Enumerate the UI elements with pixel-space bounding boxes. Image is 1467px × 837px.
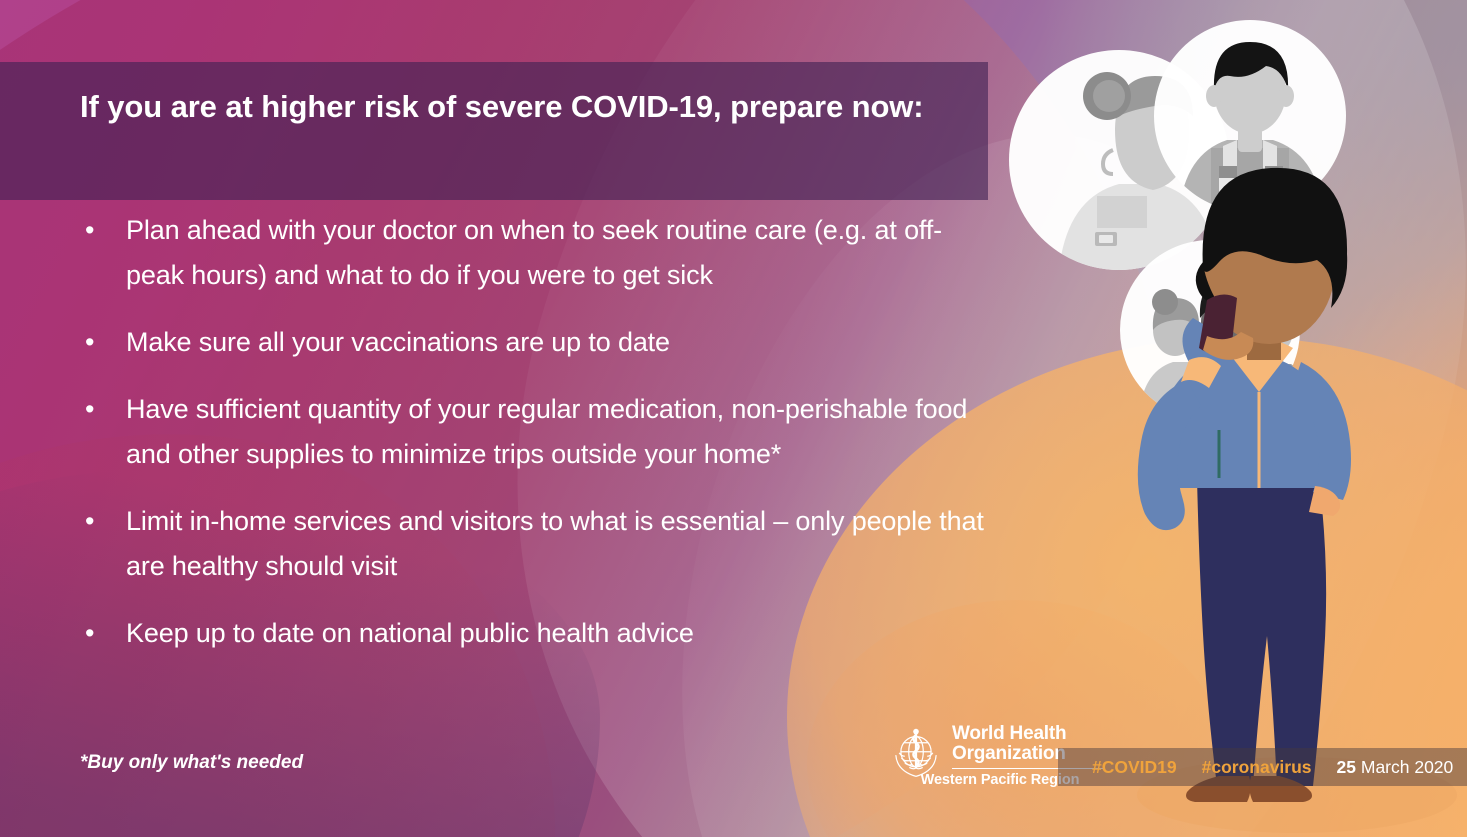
page-title: If you are at higher risk of severe COVI…: [80, 86, 980, 128]
hashtag-bar: #COVID19 #coronavirus 25 March 2020: [1058, 748, 1467, 786]
bullet-dot-icon: •: [78, 320, 126, 365]
list-item: • Have sufficient quantity of your regul…: [78, 387, 998, 477]
title-band: [0, 62, 988, 200]
bullet-text: Have sufficient quantity of your regular…: [126, 387, 998, 477]
bullet-list: • Plan ahead with your doctor on when to…: [78, 208, 998, 678]
list-item: • Keep up to date on national public hea…: [78, 611, 998, 656]
date-month-year: March 2020: [1356, 757, 1453, 777]
poster-canvas: If you are at higher risk of severe COVI…: [0, 0, 1467, 837]
date-day: 25: [1337, 757, 1356, 777]
bullet-dot-icon: •: [78, 611, 126, 656]
bullet-dot-icon: •: [78, 499, 126, 544]
who-line-1: World Health: [952, 724, 1104, 744]
bullet-text: Make sure all your vaccinations are up t…: [126, 320, 998, 365]
bullet-dot-icon: •: [78, 387, 126, 432]
footnote: *Buy only what's needed: [80, 752, 303, 774]
bullet-text: Plan ahead with your doctor on when to s…: [126, 208, 998, 298]
bullet-dot-icon: •: [78, 208, 126, 253]
hashtag-covid19[interactable]: #COVID19: [1092, 757, 1177, 778]
bullet-text: Keep up to date on national public healt…: [126, 611, 998, 656]
list-item: • Limit in-home services and visitors to…: [78, 499, 998, 589]
bullet-text: Limit in-home services and visitors to w…: [126, 499, 998, 589]
list-item: • Make sure all your vaccinations are up…: [78, 320, 998, 365]
illustration-man-on-phone: [997, 0, 1467, 837]
hashtag-coronavirus[interactable]: #coronavirus: [1202, 757, 1312, 778]
date-label: 25 March 2020: [1337, 757, 1454, 778]
list-item: • Plan ahead with your doctor on when to…: [78, 208, 998, 298]
